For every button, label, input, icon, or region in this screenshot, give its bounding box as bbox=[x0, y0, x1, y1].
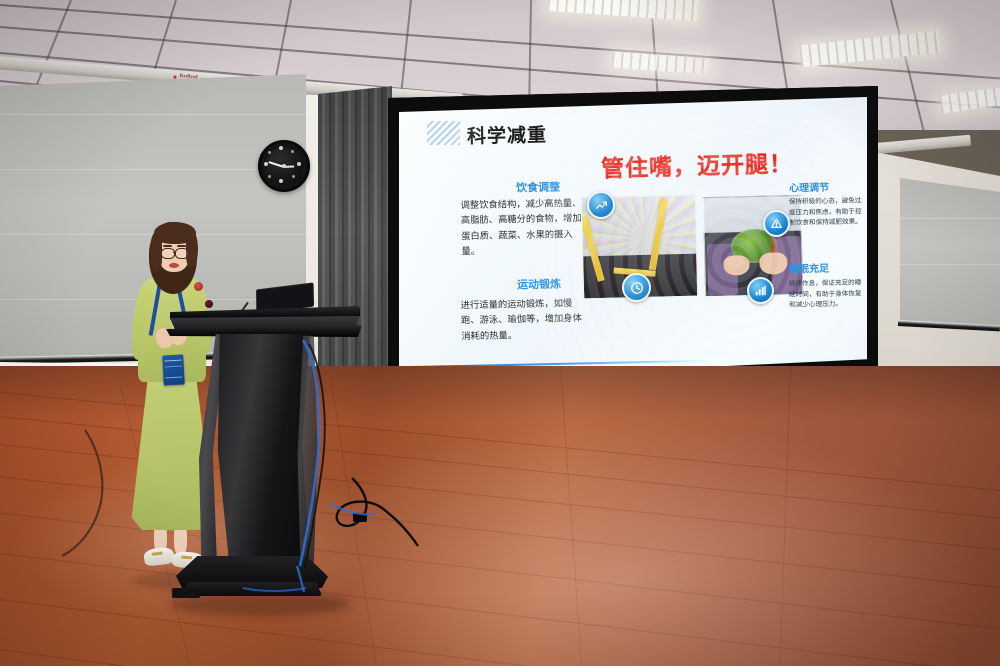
section-body-sleep: 规律作息，保证充足的睡眠时间，有助于身体恢复和减少心理压力。 bbox=[789, 277, 865, 310]
section-body-diet: 调整饮食结构，减少高热量、高脂肪、高糖分的食物，增加蛋白质、蔬菜、水果的摄入量。 bbox=[460, 196, 589, 260]
section-heading-mental: 心理调节 bbox=[789, 179, 829, 195]
eyeglasses bbox=[161, 248, 175, 259]
clock-history-icon bbox=[622, 273, 651, 302]
alert-triangle-icon bbox=[763, 210, 790, 237]
floor-cable-block bbox=[172, 588, 200, 598]
ceiling-light-fixture bbox=[799, 31, 941, 68]
chart-trend-icon bbox=[587, 191, 615, 219]
section-body-mental: 保持积极的心态，避免过度压力和焦虑，有助于控制饮食和保持减肥效果。 bbox=[789, 195, 865, 228]
lectern-base-foot bbox=[182, 582, 322, 596]
eyebrow bbox=[163, 245, 172, 247]
eyebrow bbox=[177, 245, 186, 247]
wall-clock bbox=[258, 140, 310, 192]
shoe bbox=[143, 546, 175, 567]
section-heading-diet: 饮食调整 bbox=[516, 179, 560, 196]
flower-brooch bbox=[194, 282, 203, 291]
eyeglasses bbox=[175, 248, 189, 259]
section-heading-sleep: 睡眠充足 bbox=[789, 260, 829, 276]
slide-title: 科学减重 bbox=[467, 120, 548, 149]
id-badge bbox=[162, 354, 185, 385]
roller-blind-right bbox=[900, 178, 1000, 326]
ceiling-light-fixture bbox=[939, 80, 1000, 113]
slide-decoration-hatch bbox=[427, 121, 460, 145]
section-heading-exercise: 运动锻炼 bbox=[517, 276, 561, 293]
presentation-room-photo: Redleaf bbox=[0, 0, 1000, 666]
section-body-exercise: 进行适量的运动锻炼，如慢跑、游泳、瑜伽等，增加身体消耗的热量。 bbox=[461, 296, 590, 344]
slide-headline: 管住嘴，迈开腿！ bbox=[601, 144, 794, 183]
presentation-slide: 科学减重 管住嘴，迈开腿！ 饮食调整 调整饮食结构，减少高热量、高脂肪、高糖分的… bbox=[399, 97, 867, 382]
bar-chart-icon bbox=[747, 277, 774, 304]
lips bbox=[169, 263, 179, 268]
ceiling-light-fixture bbox=[547, 0, 699, 21]
lectern-column bbox=[214, 334, 310, 566]
microphone-head bbox=[205, 300, 213, 308]
